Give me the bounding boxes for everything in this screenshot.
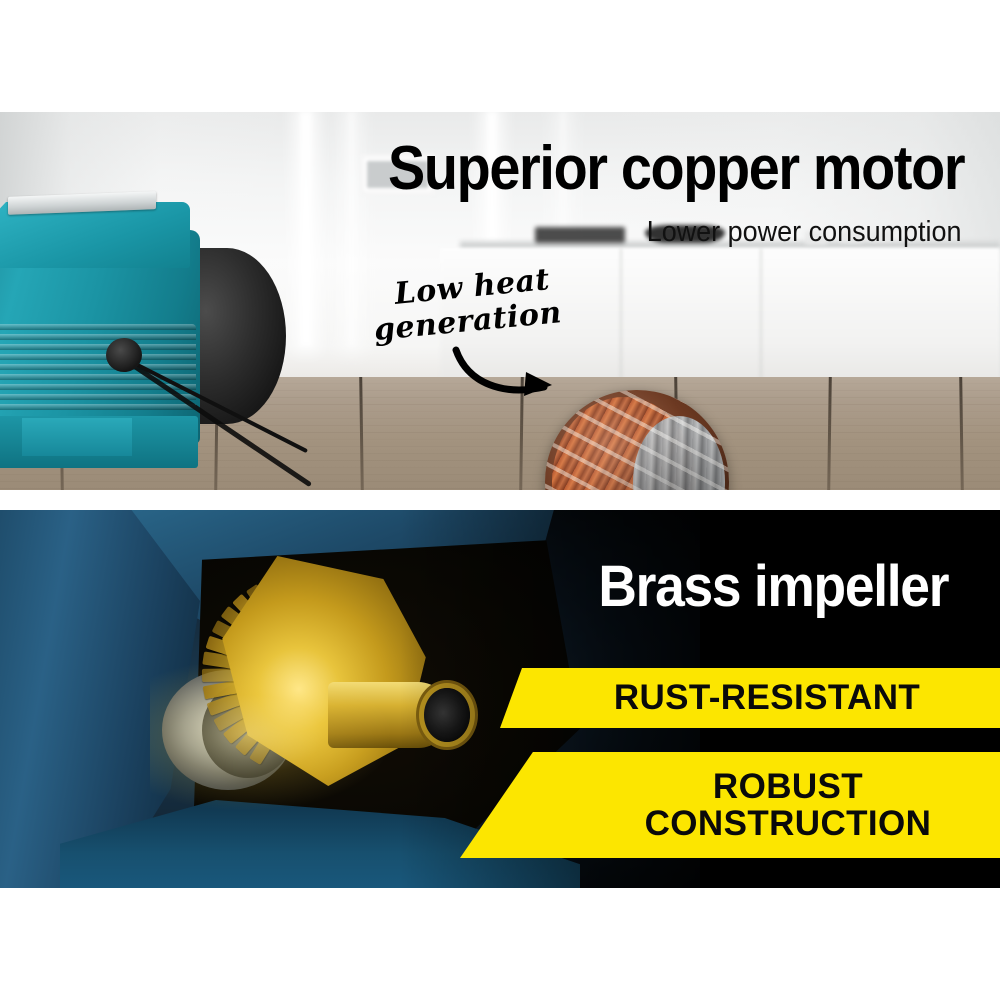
window-mullion xyxy=(300,112,312,346)
feature-badge-label-line-2: CONSTRUCTION xyxy=(645,805,932,842)
cooling-fin xyxy=(0,324,196,330)
copper-winding-inset xyxy=(545,390,729,490)
cooling-fin xyxy=(0,334,196,340)
feature-badge-robust-construction: ROBUST CONSTRUCTION xyxy=(460,752,1000,858)
cable-gland xyxy=(106,338,142,372)
product-feature-image: Superior copper motor Lower power consum… xyxy=(0,0,1000,1000)
subtitle: Lower power consumption xyxy=(647,216,962,249)
page-title: Superior copper motor xyxy=(388,138,964,200)
cooling-fin xyxy=(0,344,196,350)
cooling-fin xyxy=(0,364,196,370)
motor-base-plate xyxy=(22,418,132,456)
cooling-fin xyxy=(0,394,196,400)
panel-title: Brass impeller xyxy=(598,558,948,616)
wood-grain xyxy=(0,481,1000,482)
cooling-fin xyxy=(0,354,196,360)
feature-badge-label-line-1: ROBUST xyxy=(645,768,932,805)
panel-superior-copper-motor: Superior copper motor Lower power consum… xyxy=(0,112,1000,490)
wood-grain xyxy=(0,488,1000,489)
cabinet-seam xyxy=(760,248,762,384)
cooling-fins xyxy=(0,324,196,416)
feature-badge-label: RUST-RESISTANT xyxy=(614,678,920,718)
pump-motor-photo xyxy=(0,172,280,472)
cooktop xyxy=(535,227,625,243)
cooling-fin xyxy=(0,404,196,410)
window-mullion xyxy=(348,112,355,346)
panel-brass-impeller: Brass impeller RUST-RESISTANT ROBUST CON… xyxy=(0,510,1000,888)
cabinet-seam xyxy=(620,248,622,384)
curved-arrow-icon xyxy=(452,340,572,400)
wood-grain xyxy=(0,474,1000,475)
feature-badge-rust-resistant: RUST-RESISTANT xyxy=(500,668,1000,728)
